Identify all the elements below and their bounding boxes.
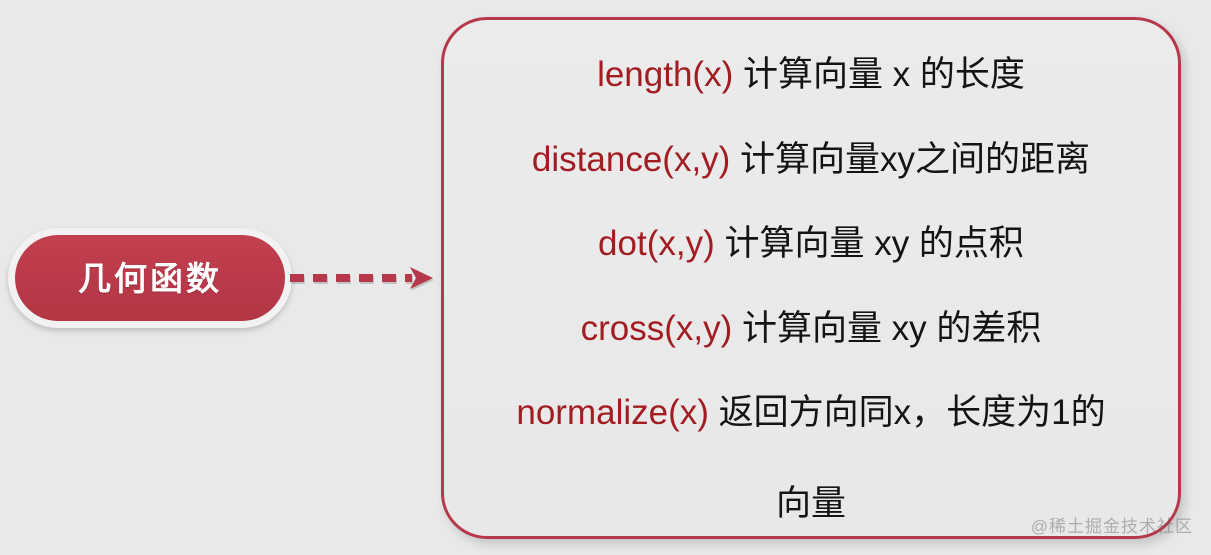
function-name: normalize(x) xyxy=(516,393,709,432)
function-description: 返回方向同x，长度为1的 xyxy=(709,393,1106,432)
node-geometry-functions[interactable]: 几何函数 xyxy=(8,228,292,328)
function-description: 计算向量 xy 的差积 xyxy=(732,309,1041,348)
function-name: distance(x,y) xyxy=(532,140,730,179)
list-item: dot(x,y) 计算向量 xy 的点积 xyxy=(444,225,1178,264)
function-name: dot(x,y) xyxy=(598,224,715,263)
dashed-arrow-connector xyxy=(290,258,440,298)
function-description: 计算向量 xy 的点积 xyxy=(715,224,1024,263)
node-label: 几何函数 xyxy=(78,262,222,295)
list-item: length(x) 计算向量 x 的长度 xyxy=(444,56,1178,95)
list-item: cross(x,y) 计算向量 xy 的差积 xyxy=(444,310,1178,349)
function-name: length(x) xyxy=(597,55,733,94)
function-description: 计算向量xy之间的距离 xyxy=(730,140,1090,179)
function-name: cross(x,y) xyxy=(581,309,733,348)
pill-body: 几何函数 xyxy=(15,235,285,321)
function-description: 计算向量 x 的长度 xyxy=(733,55,1025,94)
list-item-wrapped-tail: 向量 xyxy=(444,485,1178,524)
function-list-panel: length(x) 计算向量 x 的长度 distance(x,y) 计算向量x… xyxy=(441,17,1181,539)
list-item: distance(x,y) 计算向量xy之间的距离 xyxy=(444,141,1178,180)
list-item: normalize(x) 返回方向同x，长度为1的 xyxy=(444,394,1178,433)
slide-canvas: 几何函数 length(x) 计算向量 x 的长度 distance(x,y) … xyxy=(0,0,1211,555)
